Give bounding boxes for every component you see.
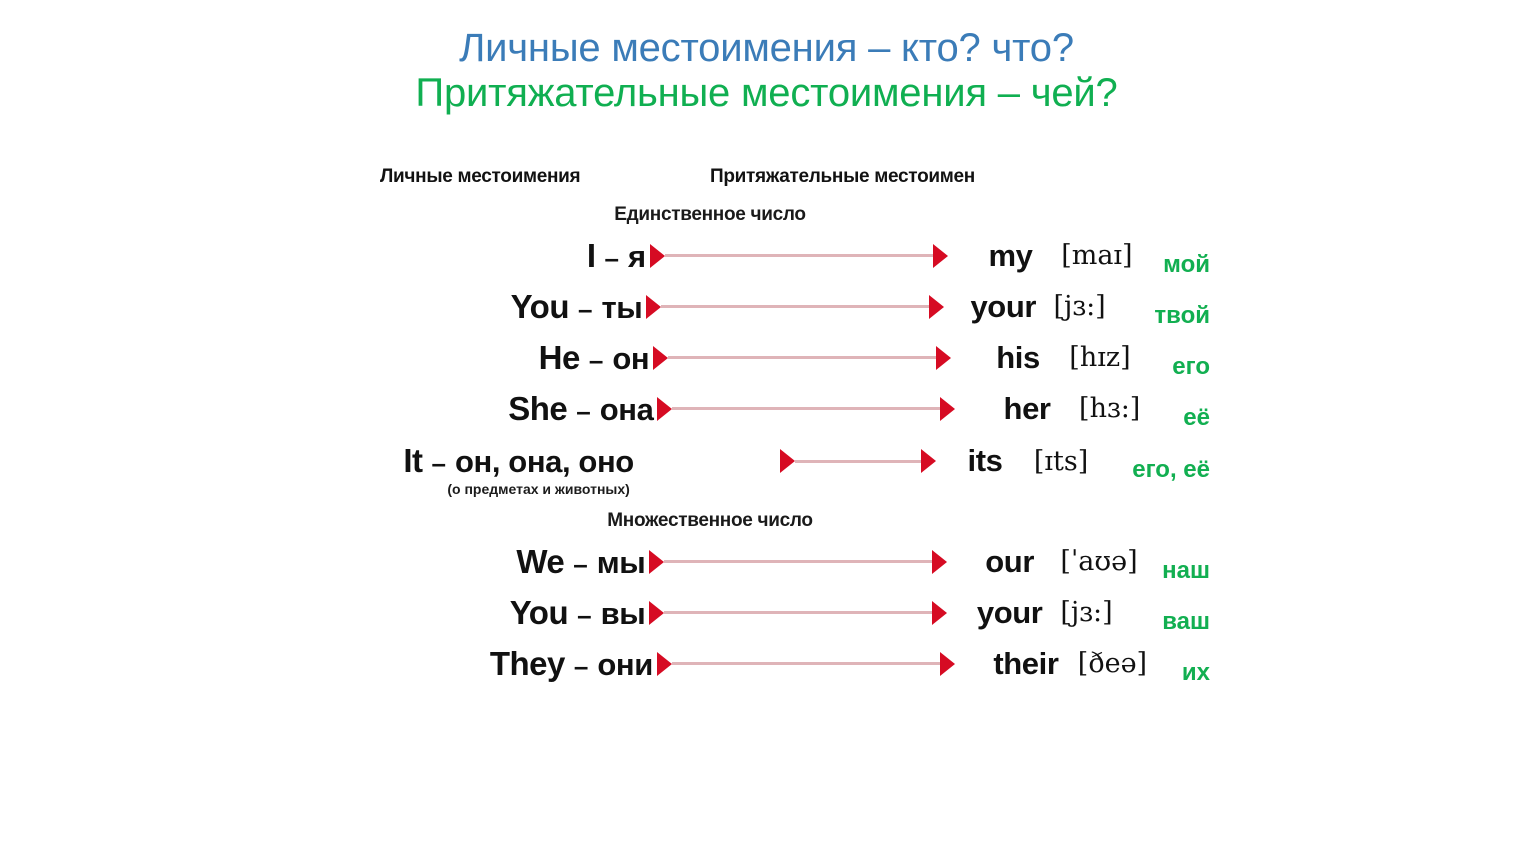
section-heading-plural: Множественное число (330, 488, 1090, 536)
table-row: He – он his [hɪz] его (330, 332, 1210, 383)
arrow-line (665, 254, 933, 257)
arrow-head-left-icon (649, 601, 664, 625)
pronoun-english: They (490, 645, 565, 683)
arrow-line (672, 662, 940, 665)
pronoun-english: She (508, 390, 567, 428)
table-row: She – она her [hɜ:] её (330, 383, 1210, 434)
pronoun-russian: вы (601, 596, 646, 632)
table-row: They – они their [ðeə] их (330, 638, 1210, 689)
pronoun-russian: он (612, 341, 649, 377)
mapping-arrow (657, 652, 955, 676)
arrow-cell (649, 600, 959, 626)
arrow-head-left-icon (650, 244, 665, 268)
arrow-line (795, 460, 921, 463)
arrow-head-right-icon (940, 397, 955, 421)
arrow-cell (650, 243, 960, 269)
table-column-headers: Личные местоимения Притяжательные местои… (330, 160, 1210, 198)
pronoun-english: He (539, 339, 580, 377)
possessive-translation: его (1164, 353, 1210, 381)
arrow-head-left-icon (657, 652, 672, 676)
table-row: We – мы our [ˈaʊə] наш (330, 536, 1210, 587)
arrow-cell (646, 294, 953, 320)
arrow-head-left-icon (780, 449, 795, 473)
personal-pronoun-cell: She – она (330, 390, 657, 428)
arrow-cell (638, 448, 936, 474)
possessive-pronoun: its (936, 443, 1034, 479)
personal-pronoun-cell: He – он (330, 339, 653, 377)
pronoun-russian: они (597, 647, 653, 683)
personal-pronoun-cell: I – я (330, 237, 650, 275)
dash-separator: – (567, 396, 599, 427)
slide-title: Личные местоимения – кто? что? Притяжате… (0, 26, 1533, 116)
column-header-possessive: Притяжательные местоимен (710, 166, 1070, 188)
arrow-head-right-icon (932, 550, 947, 574)
dash-separator: – (565, 651, 597, 682)
arrow-head-left-icon (653, 346, 668, 370)
arrow-cell (649, 549, 959, 575)
arrow-line (661, 305, 929, 308)
arrow-head-right-icon (940, 652, 955, 676)
table-row: You – вы your [jɜ:] ваш (330, 587, 1210, 638)
pronoun-note: (о предметах и животных) (447, 481, 629, 497)
arrow-head-right-icon (932, 601, 947, 625)
possessive-pronoun: your (953, 289, 1053, 325)
arrow-line (668, 356, 936, 359)
personal-pronoun-cell: They – они (330, 645, 657, 683)
arrow-head-left-icon (649, 550, 664, 574)
section-heading-singular: Единственное число (330, 198, 1090, 230)
possessive-pronoun: her (975, 391, 1079, 427)
mapping-arrow (780, 449, 936, 473)
possessive-translation: твой (1146, 302, 1210, 330)
possessive-pronoun: your (959, 595, 1060, 631)
rows-singular: I – я my [maɪ] мой You – ты (330, 230, 1210, 488)
arrow-line (664, 560, 932, 563)
arrow-head-right-icon (921, 449, 936, 473)
possessive-translation: наш (1154, 557, 1210, 585)
personal-pronoun-cell: You – ты (330, 288, 646, 326)
dash-separator: – (596, 243, 628, 274)
pronoun-russian: он, она, оно (455, 444, 634, 480)
arrow-cell (657, 651, 974, 677)
pronoun-russian: мы (597, 545, 646, 581)
pronoun-english: I (587, 237, 596, 275)
arrow-cell (657, 396, 975, 422)
dash-separator: – (580, 345, 612, 376)
personal-pronoun-cell: We – мы (330, 543, 649, 581)
possessive-pronoun: my (960, 238, 1061, 274)
dash-separator: – (568, 600, 600, 631)
possessive-transcription: [hɪz] (1069, 342, 1164, 373)
arrow-line (672, 407, 940, 410)
arrow-head-right-icon (936, 346, 951, 370)
possessive-translation: ваш (1154, 608, 1210, 636)
personal-pronoun-cell: It – он, она, оно (о предметах и животны… (330, 442, 638, 480)
possessive-transcription: [maɪ] (1061, 240, 1155, 271)
arrow-head-left-icon (657, 397, 672, 421)
arrow-head-right-icon (929, 295, 944, 319)
arrow-cell (653, 345, 967, 371)
title-line-personal: Личные местоимения – кто? что? (0, 26, 1533, 71)
mapping-arrow (649, 601, 947, 625)
possessive-transcription: [hɜ:] (1079, 393, 1175, 424)
pronoun-russian: она (600, 392, 654, 428)
pronoun-russian: ты (601, 290, 642, 326)
dash-separator: – (569, 294, 601, 325)
possessive-transcription: [ðeə] (1078, 648, 1174, 679)
possessive-transcription: [jɜ:] (1060, 597, 1154, 628)
mapping-arrow (650, 244, 948, 268)
table-row: I – я my [maɪ] мой (330, 230, 1210, 281)
pronoun-english: It (403, 442, 422, 480)
possessive-transcription: [ɪts] (1034, 446, 1124, 477)
arrow-head-left-icon (646, 295, 661, 319)
mapping-arrow (649, 550, 947, 574)
pronoun-english: You (510, 594, 568, 632)
table-row: It – он, она, оно (о предметах и животны… (330, 434, 1210, 488)
dash-separator: – (423, 448, 455, 479)
possessive-transcription: [ˈaʊə] (1060, 546, 1154, 577)
possessive-transcription: [jɜ:] (1053, 291, 1146, 322)
rows-plural: We – мы our [ˈaʊə] наш You – вы (330, 536, 1210, 689)
pronoun-table-image: Личные местоимения Притяжательные местои… (330, 160, 1210, 689)
arrow-head-right-icon (933, 244, 948, 268)
possessive-pronoun: their (974, 646, 1078, 682)
column-header-personal: Личные местоимения (380, 166, 580, 188)
dash-separator: – (564, 549, 596, 580)
possessive-translation: его, её (1124, 456, 1210, 484)
possessive-pronoun: his (967, 340, 1070, 376)
possessive-translation: её (1175, 404, 1210, 432)
mapping-arrow (657, 397, 955, 421)
table-row: You – ты your [jɜ:] твой (330, 281, 1210, 332)
possessive-pronoun: our (959, 544, 1060, 580)
arrow-line (664, 611, 932, 614)
mapping-arrow (653, 346, 951, 370)
mapping-arrow (646, 295, 944, 319)
pronoun-english: You (511, 288, 569, 326)
possessive-translation: мой (1155, 251, 1210, 279)
pronoun-english: We (516, 543, 564, 581)
possessive-translation: их (1174, 659, 1210, 687)
title-line-possessive: Притяжательные местоимения – чей? (0, 71, 1533, 116)
personal-pronoun-cell: You – вы (330, 594, 649, 632)
pronoun-russian: я (628, 239, 646, 275)
